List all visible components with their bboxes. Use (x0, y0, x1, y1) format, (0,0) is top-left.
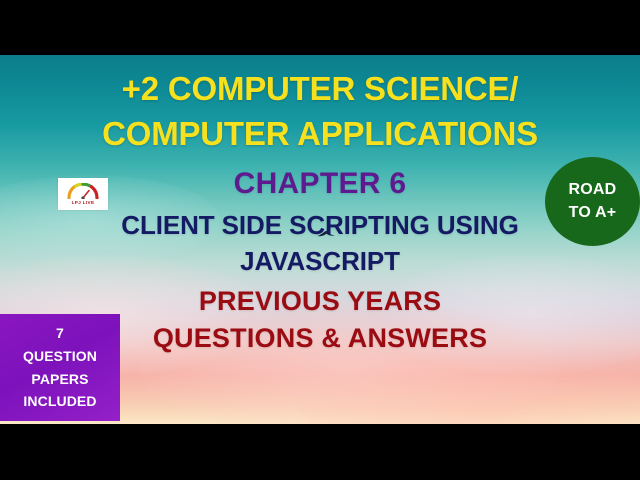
logo-text: LPJ LIVE (72, 200, 95, 205)
papers-badge-count: 7 (56, 322, 64, 345)
road-badge-line-2: TO A+ (569, 202, 617, 224)
letterbox-bar-top (0, 0, 640, 55)
papers-badge-line-3: PAPERS (31, 368, 88, 391)
speedometer-gauge-icon (66, 183, 100, 199)
previous-years-line-1: PREVIOUS YEARS (0, 274, 640, 315)
cloud-wisp (300, 355, 640, 424)
letterbox-bar-bottom (0, 424, 640, 480)
road-badge-line-1: ROAD (569, 179, 617, 201)
papers-badge-line-2: QUESTION (23, 345, 97, 368)
course-title-line-1: +2 COMPUTER SCIENCE/ (0, 55, 640, 105)
road-to-a-plus-badge: ROAD TO A+ (545, 157, 640, 246)
subject-title-line-2: JAVASCRIPT (0, 238, 640, 274)
lpj-live-logo: LPJ LIVE (58, 178, 108, 210)
course-title-line-2: COMPUTER APPLICATIONS (0, 105, 640, 150)
question-papers-badge: 7 QUESTION PAPERS INCLUDED (0, 314, 120, 421)
papers-badge-line-4: INCLUDED (23, 390, 96, 413)
video-thumbnail: +2 COMPUTER SCIENCE/ COMPUTER APPLICATIO… (0, 0, 640, 480)
